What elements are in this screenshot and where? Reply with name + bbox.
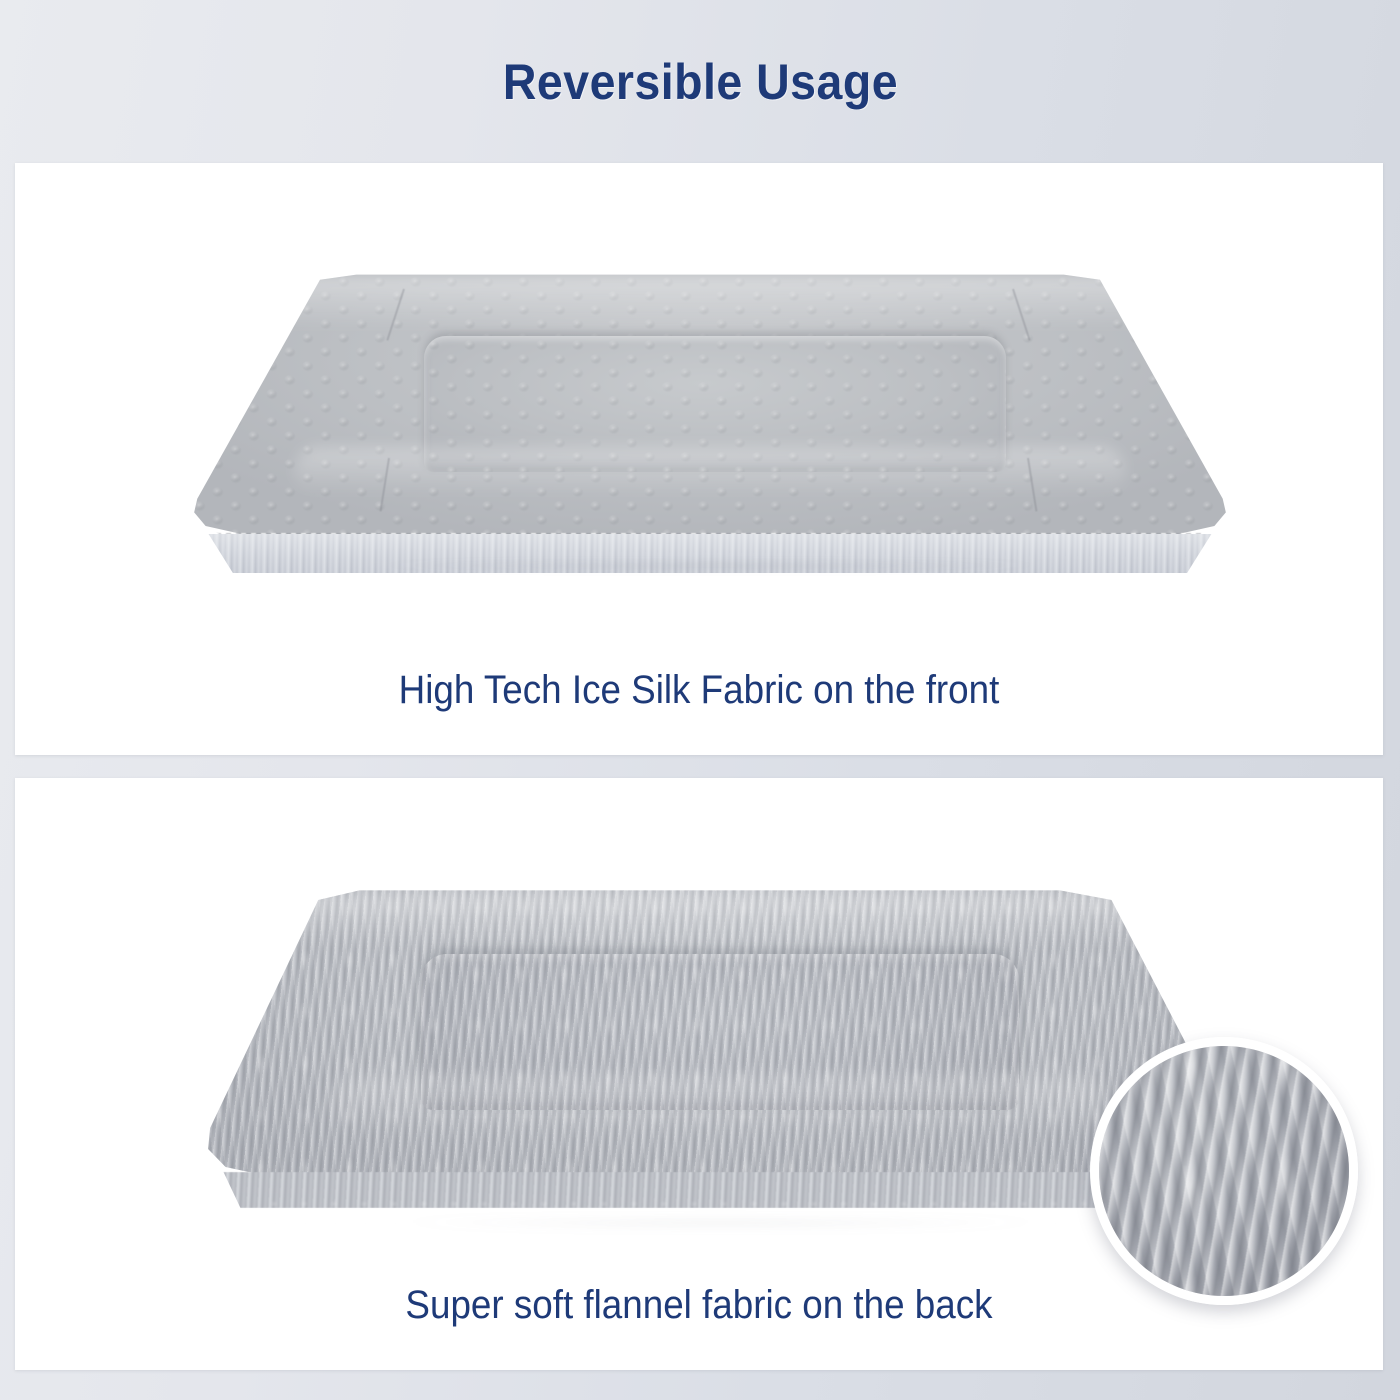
caption-back: Super soft flannel fabric on the back xyxy=(70,1283,1329,1328)
product-image-flannel-mat xyxy=(205,888,1235,1218)
infographic-page: Reversible Usage xyxy=(0,0,1400,1400)
panel-back: Super soft flannel fabric on the back xyxy=(15,778,1383,1370)
header: Reversible Usage xyxy=(0,0,1400,163)
highlight-top xyxy=(252,276,1167,330)
panel-front: High Tech Ice Silk Fabric on the front xyxy=(15,163,1383,755)
caption-front: High Tech Ice Silk Fabric on the front xyxy=(70,668,1329,713)
product-image-ice-silk-mat xyxy=(190,273,1230,573)
highlight-bottom xyxy=(329,1077,1112,1137)
contact-shadow xyxy=(257,1221,1184,1237)
highlight-bottom xyxy=(294,447,1126,496)
ice-silk-mat-body xyxy=(190,273,1230,573)
highlight-top xyxy=(277,891,1163,948)
contact-shadow xyxy=(232,564,1189,580)
flannel-top-surface xyxy=(205,888,1235,1188)
flannel-fabric-closeup xyxy=(1090,1037,1358,1305)
page-title: Reversible Usage xyxy=(502,53,897,111)
ice-silk-top-surface xyxy=(190,273,1230,545)
closeup-fur-texture xyxy=(1090,1037,1358,1305)
